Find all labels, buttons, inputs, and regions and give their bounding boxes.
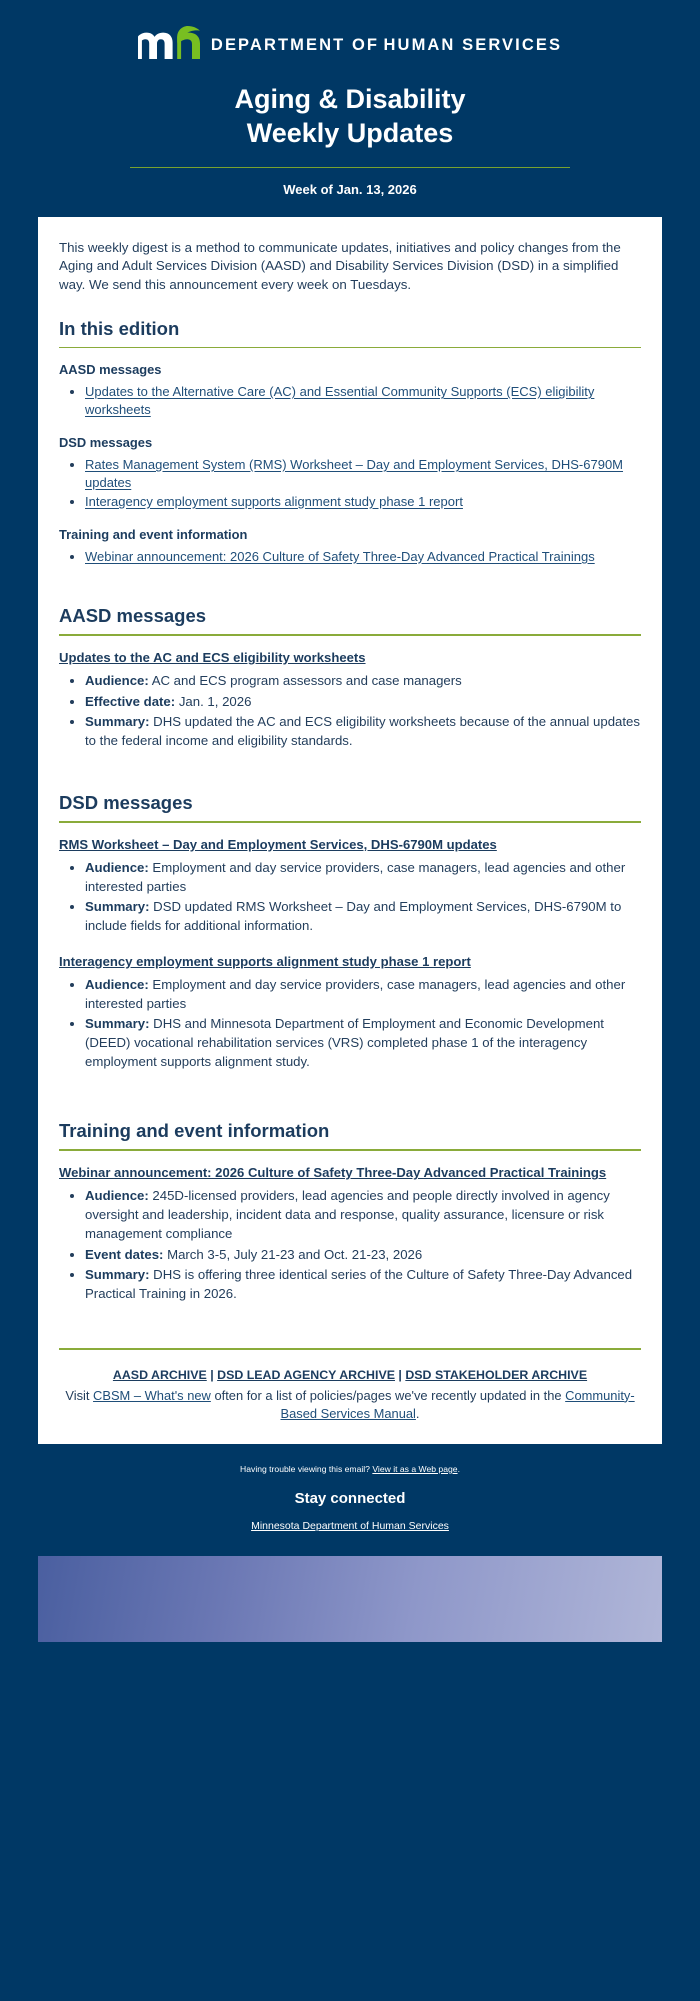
list-item: Interagency employment supports alignmen… — [85, 493, 641, 511]
list-item: Audience: Employment and day service pro… — [85, 976, 641, 1013]
intro-paragraph: This weekly digest is a method to commun… — [59, 239, 641, 296]
footer-banner-image — [38, 1556, 662, 1642]
section-divider — [59, 1149, 641, 1151]
toc-group-label: Training and event information — [59, 527, 641, 542]
agency-name: DEPARTMENT OF HUMAN SERVICES — [211, 35, 562, 55]
article-title-link[interactable]: RMS Worksheet – Day and Employment Servi… — [59, 837, 497, 852]
toc-group-training: Training and event information Webinar a… — [59, 527, 641, 566]
field-label: Summary: — [85, 714, 150, 729]
article-title: Updates to the AC and ECS eligibility wo… — [59, 650, 641, 665]
toc-group-aasd: AASD messages Updates to the Alternative… — [59, 362, 641, 419]
mn-logo-icon — [138, 26, 200, 65]
article-fields: Audience: 245D-licensed providers, lead … — [59, 1187, 641, 1303]
toc-link[interactable]: Rates Management System (RMS) Worksheet … — [85, 457, 623, 490]
field-text: DSD updated RMS Worksheet – Day and Empl… — [85, 899, 621, 933]
cbsm-whats-new-link[interactable]: CBSM – What's new — [93, 1388, 211, 1403]
toc-group-dsd: DSD messages Rates Management System (RM… — [59, 435, 641, 511]
field-text: DHS and Minnesota Department of Employme… — [85, 1016, 604, 1068]
field-text: Employment and day service providers, ca… — [85, 860, 625, 894]
list-item: Audience: 245D-licensed providers, lead … — [85, 1187, 641, 1243]
view-as-web-page-link[interactable]: View it as a Web page — [372, 1464, 457, 1474]
section-heading-dsd: DSD messages — [59, 791, 641, 815]
section-divider — [59, 821, 641, 823]
agency-footer-link-wrap: Minnesota Department of Human Services — [0, 1520, 700, 1532]
list-item: Summary: DHS updated the AC and ECS elig… — [85, 713, 641, 750]
field-text: March 3-5, July 21-23 and Oct. 21-23, 20… — [167, 1247, 422, 1262]
field-label: Event dates: — [85, 1247, 163, 1262]
trouble-suffix: . — [458, 1464, 460, 1474]
field-label: Effective date: — [85, 694, 175, 709]
article-title-link[interactable]: Interagency employment supports alignmen… — [59, 954, 471, 969]
toc-link[interactable]: Webinar announcement: 2026 Culture of Sa… — [85, 549, 595, 564]
toc-link[interactable]: Updates to the Alternative Care (AC) and… — [85, 384, 594, 417]
field-label: Audience: — [85, 860, 149, 875]
separator: | — [207, 1368, 217, 1382]
article-fields: Audience: Employment and day service pro… — [59, 976, 641, 1072]
field-label: Audience: — [85, 977, 149, 992]
field-text: Employment and day service providers, ca… — [85, 977, 625, 1011]
spacer — [59, 1089, 641, 1119]
toc-group-label: AASD messages — [59, 362, 641, 377]
visit-cbsm-text: Visit CBSM – What's new often for a list… — [59, 1387, 641, 1424]
list-item: Rates Management System (RMS) Worksheet … — [85, 456, 641, 492]
trouble-prefix: Having trouble viewing this email? — [240, 1464, 372, 1474]
list-item: Webinar announcement: 2026 Culture of Sa… — [85, 548, 641, 566]
spacer — [59, 582, 641, 604]
title-line-2: Weekly Updates — [40, 117, 660, 151]
article-fields: Audience: AC and ECS program assessors a… — [59, 672, 641, 751]
section-heading-training: Training and event information — [59, 1119, 641, 1143]
separator: | — [395, 1368, 405, 1382]
spacer — [59, 769, 641, 791]
toc-link[interactable]: Interagency employment supports alignmen… — [85, 494, 463, 509]
email-body-card: This weekly digest is a method to commun… — [38, 217, 662, 1444]
dsd-stakeholder-archive-link[interactable]: DSD STAKEHOLDER ARCHIVE — [405, 1368, 587, 1382]
list-item: Audience: Employment and day service pro… — [85, 859, 641, 896]
toc-divider — [59, 347, 641, 348]
field-text: 245D-licensed providers, lead agencies a… — [85, 1188, 610, 1240]
visit-middle: often for a list of policies/pages we've… — [211, 1388, 565, 1403]
stay-connected-heading: Stay connected — [0, 1490, 700, 1507]
field-label: Audience: — [85, 673, 149, 688]
article-title-link[interactable]: Webinar announcement: 2026 Culture of Sa… — [59, 1165, 606, 1180]
spacer — [59, 1322, 641, 1344]
section-heading-aasd: AASD messages — [59, 604, 641, 628]
field-label: Audience: — [85, 1188, 149, 1203]
toc-list: Webinar announcement: 2026 Culture of Sa… — [59, 548, 641, 566]
article-title: Interagency employment supports alignmen… — [59, 954, 641, 969]
agency-line-1: DEPARTMENT OF — [211, 36, 379, 54]
field-text: Jan. 1, 2026 — [179, 694, 252, 709]
toc-list: Rates Management System (RMS) Worksheet … — [59, 456, 641, 511]
article-fields: Audience: Employment and day service pro… — [59, 859, 641, 936]
visit-prefix: Visit — [65, 1388, 93, 1403]
mn-dhs-link[interactable]: Minnesota Department of Human Services — [251, 1520, 449, 1532]
list-item: Summary: DSD updated RMS Worksheet – Day… — [85, 898, 641, 935]
field-text: DHS is offering three identical series o… — [85, 1267, 632, 1301]
field-text: DHS updated the AC and ECS eligibility w… — [85, 714, 640, 748]
dsd-lead-agency-archive-link[interactable]: DSD LEAD AGENCY ARCHIVE — [217, 1368, 395, 1382]
section-divider — [59, 634, 641, 636]
field-label: Summary: — [85, 1267, 150, 1282]
toc-list: Updates to the Alternative Care (AC) and… — [59, 383, 641, 419]
toc-heading: In this edition — [59, 317, 641, 341]
list-item: Summary: DHS and Minnesota Department of… — [85, 1015, 641, 1071]
trouble-viewing-line: Having trouble viewing this email? View … — [0, 1464, 700, 1474]
archive-links: AASD ARCHIVE | DSD LEAD AGENCY ARCHIVE |… — [59, 1366, 641, 1385]
list-item: Updates to the Alternative Care (AC) and… — [85, 383, 641, 419]
page-title: Aging & Disability Weekly Updates — [0, 83, 700, 151]
field-label: Summary: — [85, 899, 150, 914]
aasd-archive-link[interactable]: AASD ARCHIVE — [113, 1368, 207, 1382]
agency-line-2: HUMAN SERVICES — [384, 36, 563, 54]
email-header: DEPARTMENT OF HUMAN SERVICES Aging & Dis… — [0, 0, 700, 217]
archive-divider — [59, 1348, 641, 1350]
email-page: DEPARTMENT OF HUMAN SERVICES Aging & Dis… — [0, 0, 700, 1650]
list-item: Event dates: March 3-5, July 21-23 and O… — [85, 1246, 641, 1265]
list-item: Summary: DHS is offering three identical… — [85, 1266, 641, 1303]
visit-suffix: . — [416, 1406, 420, 1421]
title-line-1: Aging & Disability — [40, 83, 660, 117]
footer-tail — [0, 1642, 700, 1650]
field-text: AC and ECS program assessors and case ma… — [152, 673, 462, 688]
article-title-link[interactable]: Updates to the AC and ECS eligibility wo… — [59, 650, 366, 665]
list-item: Audience: AC and ECS program assessors a… — [85, 672, 641, 691]
field-label: Summary: — [85, 1016, 150, 1031]
article-title: Webinar announcement: 2026 Culture of Sa… — [59, 1165, 641, 1180]
email-footer: Having trouble viewing this email? View … — [0, 1444, 700, 1650]
brand-lockup: DEPARTMENT OF HUMAN SERVICES — [0, 26, 700, 65]
article-title: RMS Worksheet – Day and Employment Servi… — [59, 837, 641, 852]
week-of-label: Week of Jan. 13, 2026 — [0, 168, 700, 217]
toc-group-label: DSD messages — [59, 435, 641, 450]
list-item: Effective date: Jan. 1, 2026 — [85, 693, 641, 712]
